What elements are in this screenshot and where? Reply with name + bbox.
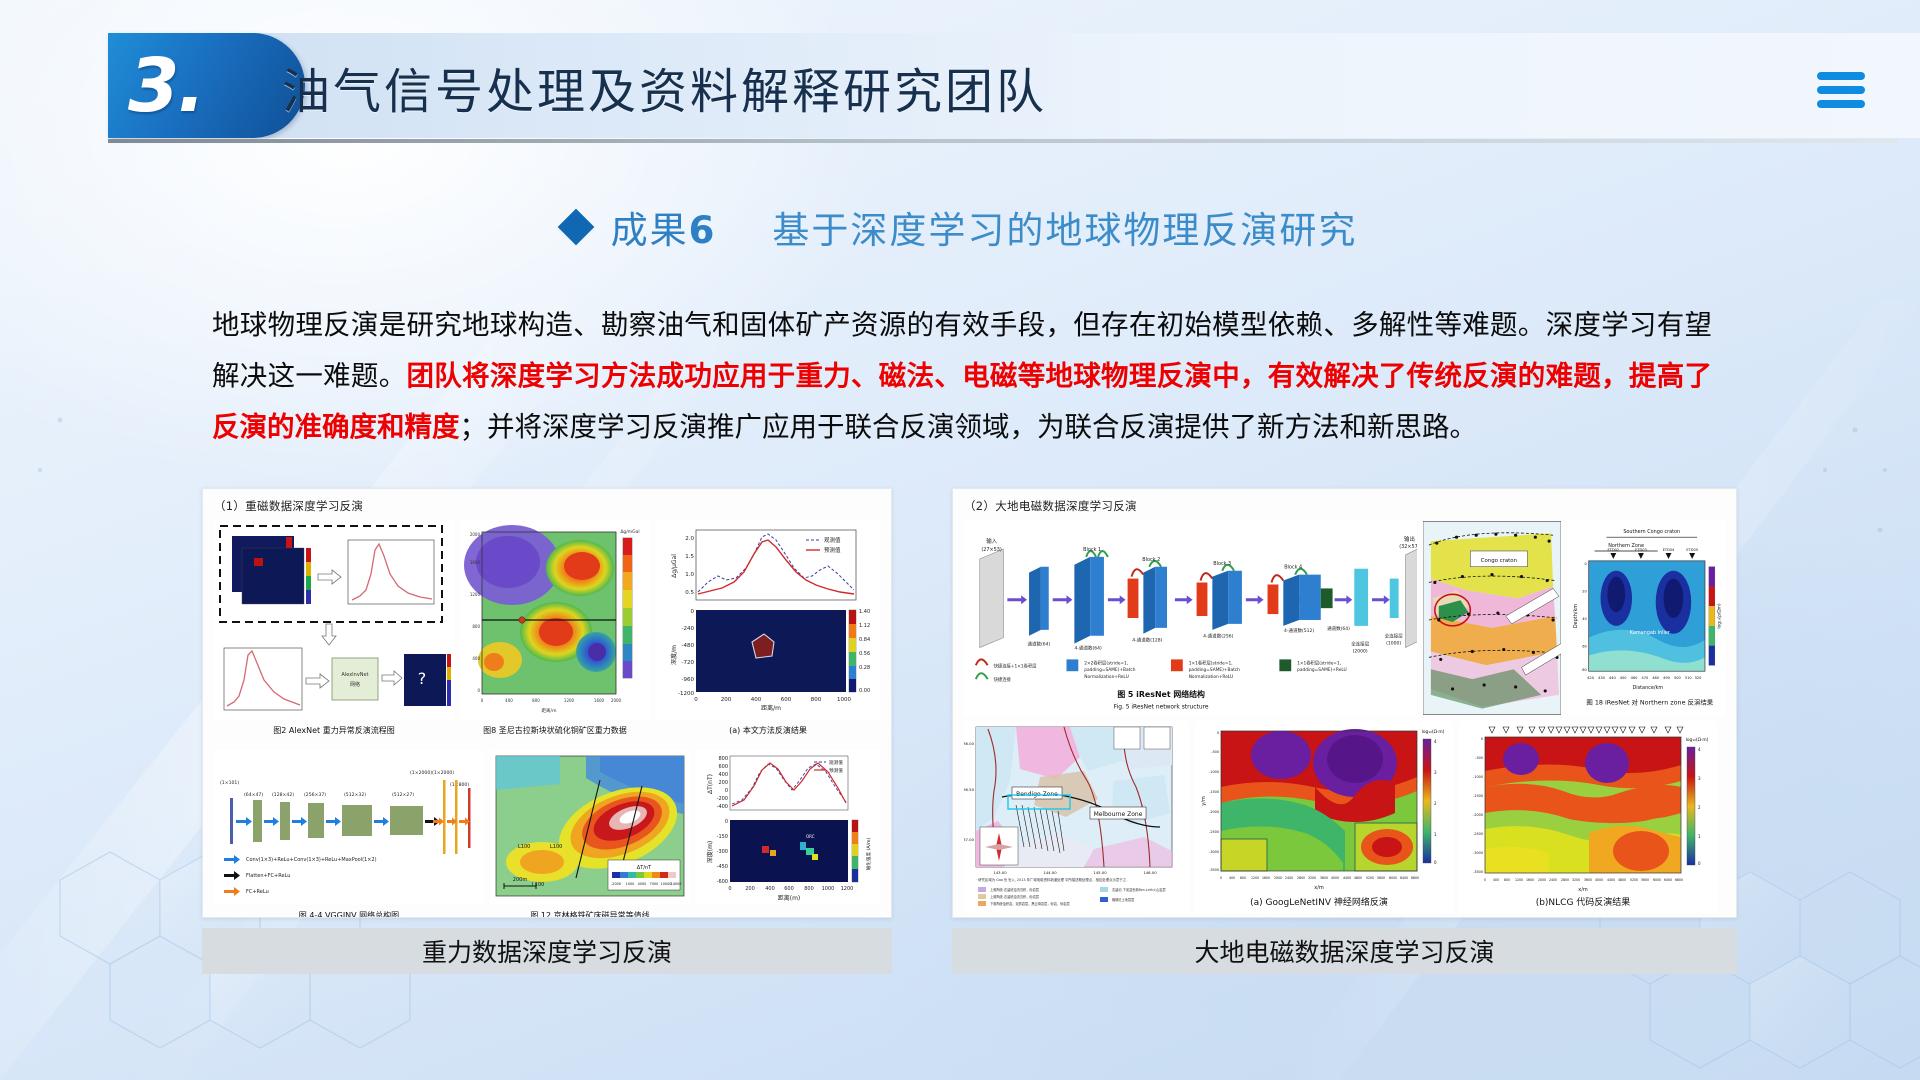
svg-text:1000: 1000 — [822, 886, 835, 892]
svg-text:-36.50: -36.50 — [964, 787, 975, 792]
svg-text:800: 800 — [1504, 878, 1510, 882]
svg-text:0.00: 0.00 — [859, 688, 870, 694]
svg-text:(2000): (2000) — [1353, 648, 1368, 654]
svg-text:(27×53): (27×53) — [981, 547, 1002, 553]
svg-text:200: 200 — [718, 780, 728, 786]
svg-text:2.0: 2.0 — [685, 536, 694, 542]
svg-text:下奥陶统浊积岩，泥质岩层，黑云母岩层，砂岩，砂岩层: 下奥陶统浊积岩，泥质岩层，黑云母岩层，砂岩，砂岩层 — [990, 901, 1070, 906]
svg-text:距离(m): 距离(m) — [778, 894, 801, 902]
svg-text:470: 470 — [1642, 676, 1649, 680]
svg-text:图 5 iResNet 网络结构: 图 5 iResNet 网络结构 — [1117, 689, 1205, 699]
svg-text:-3500: -3500 — [1473, 870, 1483, 874]
svg-text:ETD05: ETD05 — [1687, 548, 1699, 552]
figure-card-left: （1）重磁数据深度学习反演 — [202, 488, 892, 918]
svg-text:· 研究区域为 Gao 등 등入, 2013 年广域电磁资料: · 研究区域为 Gao 등 등入, 2013 年广域电磁资料新道处理 中所描述概… — [976, 877, 1127, 882]
subfigure-nlcg-inversion: 0400 8001200 16002000 24002800 32003600 … — [1459, 721, 1717, 913]
svg-text:Normalization+ReLU: Normalization+ReLU — [1189, 674, 1234, 680]
svg-text:6400: 6400 — [1664, 878, 1672, 882]
section-subtitle: 成果6 基于深度学习的地球物理反演研究 — [0, 200, 1920, 254]
diamond-bullet-icon — [557, 209, 594, 246]
svg-text:-720: -720 — [682, 660, 695, 666]
svg-text:-1200: -1200 — [678, 691, 694, 697]
svg-text:6000: 6000 — [1653, 878, 1661, 882]
body-paragraph: 地球物理反演是研究地球构造、勘察油气和固体矿产资源的有效手段，但存在初始模型依赖… — [212, 300, 1712, 453]
svg-text:1200: 1200 — [1515, 878, 1523, 882]
svg-text:800: 800 — [1240, 876, 1246, 880]
subfigure-vgginv-network: (1×101) (64×47) (128×42) (256×37) (512×3… — [214, 750, 484, 905]
svg-text:1000: 1000 — [837, 697, 851, 703]
svg-text:(256×37): (256×37) — [304, 792, 326, 798]
svg-text:6800: 6800 — [1675, 878, 1683, 882]
svg-text:4-通道数(256): 4-通道数(256) — [1203, 633, 1233, 640]
subfigure-northern-zone-inversion: Southern Congo craton Northern Zone ETD0… — [1567, 520, 1725, 716]
svg-text:440: 440 — [1609, 676, 1616, 680]
svg-text:通道数(64): 通道数(64) — [1027, 641, 1050, 648]
svg-text:FC+ReLu: FC+ReLu — [246, 889, 269, 895]
svg-text:0: 0 — [1220, 876, 1222, 880]
svg-text:-300: -300 — [717, 849, 728, 855]
subfigure-bendigo-melbourne-map: Bendigo Zone Melbourne Zone — [964, 721, 1189, 913]
svg-text:600: 600 — [784, 886, 794, 892]
svg-text:3200: 3200 — [1572, 878, 1580, 882]
svg-text:80: 80 — [1583, 668, 1588, 672]
svg-text:0.28: 0.28 — [859, 665, 870, 671]
svg-text:距离/m: 距离/m — [761, 704, 781, 712]
figure-card-right: （2）大地电磁数据深度学习反演 输入 (27×53) — [952, 488, 1737, 918]
slide-header: 3. 油气信号处理及资料解释研究团队 — [0, 0, 1920, 172]
svg-text:ΔT(nT): ΔT(nT) — [707, 774, 714, 794]
svg-text:0: 0 — [1484, 878, 1486, 882]
svg-text:输入: 输入 — [986, 537, 997, 545]
svg-text:(b)NLCG 代码反演结果: (b)NLCG 代码反演结果 — [1536, 896, 1631, 908]
svg-text:0: 0 — [1217, 731, 1219, 735]
svg-text:400: 400 — [505, 698, 513, 703]
svg-text:-2000: -2000 — [1209, 810, 1219, 814]
body-segment-2: ；并将深度学习反演推广应用于联合反演领域，为联合反演提供了新方法和新思路。 — [460, 411, 1478, 443]
svg-text:20: 20 — [1583, 589, 1588, 593]
svg-text:-36.00: -36.00 — [964, 741, 975, 746]
svg-text:Southern Congo craton: Southern Congo craton — [1624, 529, 1681, 535]
svg-text:padding=SAME)+ReLU: padding=SAME)+ReLU — [1297, 667, 1347, 673]
svg-text:5600: 5600 — [1641, 878, 1649, 882]
subtitle-main: 基于深度学习的地球物理反演研究 — [772, 200, 1357, 254]
svg-text:输出: 输出 — [1404, 535, 1415, 543]
subtitle-label: 成果6 — [611, 200, 717, 254]
svg-text:0: 0 — [725, 788, 728, 794]
svg-text:?: ? — [418, 669, 427, 688]
svg-text:磁化强度 (A/m): 磁化强度 (A/m) — [865, 838, 872, 871]
svg-text:600: 600 — [718, 764, 728, 770]
svg-text:60: 60 — [1583, 645, 1588, 649]
svg-text:Δg/μGal: Δg/μGal — [671, 554, 678, 578]
svg-text:距离/m: 距离/m — [542, 707, 557, 714]
svg-text:1×1卷积层(stride=1,: 1×1卷积层(stride=1, — [1297, 659, 1341, 666]
svg-text:4800: 4800 — [1354, 876, 1362, 880]
figure-right-caption: 大地电磁数据深度学习反演 — [952, 928, 1737, 974]
svg-text:-960: -960 — [682, 677, 695, 683]
svg-text:L100: L100 — [518, 844, 530, 850]
svg-text:4400: 4400 — [1607, 878, 1615, 882]
svg-text:Block 3: Block 3 — [1213, 561, 1231, 567]
svg-text:14000: 14000 — [671, 882, 682, 886]
svg-text:2400: 2400 — [1285, 876, 1293, 880]
svg-text:2800: 2800 — [1297, 876, 1305, 880]
figure-left-caption: 重力数据深度学习反演 — [202, 928, 892, 974]
hamburger-bar-3 — [1817, 100, 1865, 108]
svg-text:log₁₀(Ω·m): log₁₀(Ω·m) — [1686, 737, 1709, 743]
page-title: 油气信号处理及资料解释研究团队 — [282, 45, 1047, 129]
svg-text:2000: 2000 — [1274, 876, 1282, 880]
svg-text:志留纪-下泥盆世新Ben-Leth火山岩层: 志留纪-下泥盆世新Ben-Leth火山岩层 — [1112, 887, 1166, 892]
svg-text:1.5: 1.5 — [685, 554, 694, 560]
svg-text:460: 460 — [1631, 676, 1638, 680]
svg-text:-500: -500 — [1475, 756, 1483, 760]
svg-text:2×2卷积层(stride=1,: 2×2卷积层(stride=1, — [1084, 659, 1128, 666]
svg-text:5200: 5200 — [1630, 878, 1638, 882]
svg-text:(32×57): (32×57) — [1399, 544, 1417, 550]
header-number: 3. — [128, 40, 248, 132]
svg-text:4-通道数(512): 4-通道数(512) — [1284, 627, 1314, 634]
svg-text:全连接层: 全连接层 — [1385, 633, 1404, 640]
svg-text:1200: 1200 — [841, 886, 854, 892]
svg-text:-2000: -2000 — [611, 882, 621, 886]
subfigure-iresnet-structure: 输入 (27×53) — [964, 520, 1417, 716]
svg-text:2000: 2000 — [470, 532, 481, 537]
svg-text:3600: 3600 — [1584, 878, 1592, 882]
svg-text:800: 800 — [811, 697, 822, 703]
svg-text:快捷连接: 快捷连接 — [994, 676, 1012, 683]
svg-text:0: 0 — [725, 819, 728, 825]
svg-text:1000: 1000 — [626, 882, 635, 886]
svg-text:600: 600 — [781, 697, 792, 703]
svg-text:-500: -500 — [1211, 750, 1219, 754]
hamburger-icon[interactable] — [1817, 72, 1865, 108]
svg-text:143.00: 143.00 — [993, 870, 1007, 875]
svg-text:4400: 4400 — [1343, 876, 1351, 880]
svg-text:1200: 1200 — [470, 592, 481, 597]
svg-text:0.84: 0.84 — [859, 637, 870, 643]
svg-text:Depth/km: Depth/km — [1573, 604, 1579, 628]
svg-text:400: 400 — [1229, 876, 1235, 880]
svg-text:-3000: -3000 — [1209, 850, 1219, 854]
svg-text:400: 400 — [472, 656, 480, 661]
svg-text:-1500: -1500 — [1209, 790, 1219, 794]
svg-text:500: 500 — [1674, 676, 1681, 680]
svg-text:Fig. 5 iResNet network struc: Fig. 5 iResNet network structure — [1114, 705, 1209, 711]
subfigure-vgginv-caption: 图 4-4 VGGINV 网络总构图 — [214, 910, 484, 918]
svg-text:快捷连接+1×1卷积层: 快捷连接+1×1卷积层 — [994, 662, 1038, 669]
svg-text:-1500: -1500 — [1473, 794, 1483, 798]
svg-text:log₁₀(ρ/Ωm): log₁₀(ρ/Ωm) — [1717, 603, 1723, 628]
svg-text:-2500: -2500 — [1473, 832, 1483, 836]
svg-text:(1×101): (1×101) — [220, 780, 239, 786]
svg-text:480: 480 — [1653, 676, 1660, 680]
svg-text:Congo craton: Congo craton — [1481, 558, 1517, 564]
svg-text:padding=SAME)+Batch: padding=SAME)+Batch — [1189, 667, 1240, 673]
subfigure-alexnet-flow: AlexInvNet 网络 ? — [214, 520, 454, 720]
svg-text:padding=SAME)+Batch: padding=SAME)+Batch — [1084, 667, 1135, 673]
svg-text:200: 200 — [745, 886, 755, 892]
svg-text:3600: 3600 — [1320, 876, 1328, 880]
svg-text:通道数(64): 通道数(64) — [1327, 625, 1350, 632]
svg-text:800: 800 — [804, 886, 814, 892]
svg-text:420: 420 — [1588, 676, 1595, 680]
subfigure-san-nicolas-gravity-anomaly: Δg/mGal 0 400 800 1200 1600 2000 0400 — [460, 520, 650, 720]
svg-text:(1×2000)(1×2000): (1×2000)(1×2000) — [410, 770, 454, 776]
svg-text:观测值: 观测值 — [824, 536, 841, 544]
svg-text:1600: 1600 — [1262, 876, 1270, 880]
hamburger-bar-1 — [1817, 72, 1865, 80]
svg-text:1600: 1600 — [470, 560, 481, 565]
svg-text:网络: 网络 — [350, 681, 360, 688]
svg-text:4-通道数(64): 4-通道数(64) — [1075, 645, 1103, 652]
svg-text:-600: -600 — [717, 879, 728, 885]
svg-text:5200: 5200 — [1366, 876, 1374, 880]
svg-text:0.56: 0.56 — [859, 651, 870, 657]
svg-text:-1000: -1000 — [1209, 770, 1219, 774]
svg-text:Distance/km: Distance/km — [1633, 685, 1664, 691]
svg-text:(512×32): (512×32) — [344, 792, 366, 798]
svg-text:观测值: 观测值 — [829, 759, 843, 766]
svg-text:145.00: 145.00 — [1093, 870, 1107, 875]
svg-text:800: 800 — [472, 624, 480, 629]
svg-text:预测值: 预测值 — [824, 546, 841, 554]
svg-text:1.0: 1.0 — [685, 572, 694, 578]
svg-text:5600: 5600 — [1377, 876, 1385, 880]
svg-text:预测值: 预测值 — [829, 767, 843, 774]
svg-text:-200: -200 — [717, 796, 728, 802]
svg-text:L100: L100 — [532, 882, 544, 888]
figure-gravity-magnetic: （1）重磁数据深度学习反演 — [202, 488, 892, 974]
svg-text:0: 0 — [1481, 737, 1483, 741]
svg-text:146.00: 146.00 — [1143, 870, 1157, 875]
subtitle-label-prefix: 成果 — [611, 209, 689, 252]
svg-text:Melbourne Zone: Melbourne Zone — [1094, 811, 1143, 818]
svg-text:ETD04: ETD04 — [1663, 548, 1675, 552]
svg-text:800: 800 — [532, 698, 540, 703]
svg-text:510: 510 — [1685, 676, 1692, 680]
svg-text:400: 400 — [765, 886, 775, 892]
svg-text:6800: 6800 — [1411, 876, 1419, 880]
svg-text:上奥陶统-志留统浊流沉积，砂岩层: 上奥陶统-志留统浊流沉积，砂岩层 — [990, 887, 1039, 892]
svg-text:ETD02: ETD02 — [1608, 548, 1620, 552]
svg-text:430: 430 — [1598, 676, 1605, 680]
svg-text:x/m: x/m — [1314, 885, 1324, 891]
svg-text:L100: L100 — [550, 844, 562, 850]
svg-text:-1000: -1000 — [1473, 775, 1483, 779]
svg-text:520: 520 — [1695, 676, 1702, 680]
svg-text:490: 490 — [1663, 676, 1670, 680]
svg-text:ORC: ORC — [806, 834, 815, 839]
svg-text:0: 0 — [728, 886, 731, 892]
svg-text:Conv(1×3)+ReLu+Conv(1×3)+ReLu+: Conv(1×3)+ReLu+Conv(1×3)+ReLu+MaxPool(1×… — [246, 857, 377, 863]
svg-text:Block 4: Block 4 — [1284, 565, 1302, 571]
subfigure-inversion-result: 2.01.5 1.00.5 Δg/μGal 观测值 预测值 0- — [656, 520, 880, 720]
svg-text:3200: 3200 — [1308, 876, 1316, 880]
svg-text:2800: 2800 — [1561, 878, 1569, 882]
svg-text:上奥陶统-志留统浊流沉积，砂岩层: 上奥陶统-志留统浊流沉积，砂岩层 — [990, 894, 1039, 899]
svg-text:(128×42): (128×42) — [272, 792, 294, 798]
svg-text:Normalization+ReLU: Normalization+ReLU — [1084, 674, 1129, 680]
svg-text:4000: 4000 — [1595, 878, 1603, 882]
header-divider — [108, 139, 1898, 143]
svg-text:4000: 4000 — [1331, 876, 1339, 880]
figure-right-panel-label: （2）大地电磁数据深度学习反演 — [964, 498, 1725, 514]
svg-text:(512×27): (512×27) — [392, 792, 414, 798]
svg-text:0: 0 — [481, 698, 484, 703]
svg-text:晚期红土地层层: 晚期红土地层层 — [1112, 897, 1134, 902]
svg-text:-150: -150 — [717, 834, 728, 840]
svg-text:200m: 200m — [513, 877, 528, 883]
svg-text:-3000: -3000 — [1473, 851, 1483, 855]
svg-text:Δg/mGal: Δg/mGal — [620, 529, 639, 535]
svg-text:2000: 2000 — [1538, 878, 1546, 882]
svg-text:800: 800 — [718, 756, 728, 762]
subfigure-inversion-result-caption: (a) 本文方法反演结果 — [656, 725, 880, 745]
svg-text:1200: 1200 — [1251, 876, 1259, 880]
svg-text:-2000: -2000 — [1473, 813, 1483, 817]
svg-text:1600: 1600 — [594, 698, 605, 703]
svg-text:深度/m: 深度/m — [670, 645, 678, 665]
svg-text:-480: -480 — [682, 643, 695, 649]
svg-text:(1000): (1000) — [1386, 641, 1401, 647]
svg-text:-240: -240 — [682, 626, 695, 632]
svg-text:1.40: 1.40 — [859, 609, 870, 615]
svg-text:450: 450 — [1620, 676, 1627, 680]
svg-text:log₁₀(Ω·m): log₁₀(Ω·m) — [1422, 729, 1445, 735]
svg-text:x/m: x/m — [1578, 887, 1588, 893]
svg-text:y/m: y/m — [1201, 796, 1207, 806]
svg-text:(a) GoogLeNetINV 神经网络反演: (a) GoogLeNetINV 神经网络反演 — [1250, 896, 1388, 908]
figure-magnetotelluric: （2）大地电磁数据深度学习反演 输入 (27×53) — [952, 488, 1737, 974]
svg-text:1×1卷积层(stride=1,: 1×1卷积层(stride=1, — [1189, 659, 1233, 666]
svg-text:4800: 4800 — [1618, 878, 1626, 882]
svg-text:400: 400 — [1493, 878, 1499, 882]
svg-text:(64×47): (64×47) — [244, 792, 263, 798]
svg-text:40: 40 — [1583, 617, 1588, 621]
svg-text:4000: 4000 — [638, 882, 647, 886]
svg-text:2000: 2000 — [611, 698, 622, 703]
svg-text:Kamangab Inlier: Kamangab Inlier — [1630, 630, 1671, 636]
svg-text:-450: -450 — [717, 864, 728, 870]
svg-text:全连接层: 全连接层 — [1351, 641, 1370, 648]
svg-text:1.12: 1.12 — [859, 623, 870, 629]
svg-text:1200: 1200 — [564, 698, 575, 703]
svg-text:-3500: -3500 — [1209, 868, 1219, 872]
svg-text:144.00: 144.00 — [1043, 870, 1057, 875]
svg-text:图 18 iResNet 对 Northern zone: 图 18 iResNet 对 Northern zone 反演结果 — [1587, 698, 1714, 707]
subfigure-magnetic-contour: L100L100 L212L100 ΔT/nT — [490, 750, 690, 905]
subfigure-alexnet-flow-caption: 图2 AlexNet 重力异常反演流程图 — [214, 725, 454, 745]
svg-text:6400: 6400 — [1400, 876, 1408, 880]
svg-text:0: 0 — [694, 697, 698, 703]
svg-text:深度(m): 深度(m) — [706, 841, 714, 864]
svg-text:0: 0 — [691, 609, 695, 615]
svg-text:1600: 1600 — [1526, 878, 1534, 882]
svg-text:-2500: -2500 — [1209, 830, 1219, 834]
svg-text:AlexInvNet: AlexInvNet — [341, 672, 368, 678]
svg-text:200: 200 — [721, 697, 732, 703]
subfigure-congo-craton-map: Congo craton — [1423, 520, 1561, 716]
figure-left-panel-label: （1）重磁数据深度学习反演 — [214, 498, 880, 514]
svg-text:0.5: 0.5 — [685, 590, 694, 596]
svg-text:ETD03: ETD03 — [1635, 548, 1647, 552]
svg-text:4-通道数(128): 4-通道数(128) — [1132, 637, 1162, 644]
svg-text:(1×800): (1×800) — [450, 782, 469, 788]
svg-text:2400: 2400 — [1549, 878, 1557, 882]
svg-text:ΔT/nT: ΔT/nT — [637, 865, 652, 871]
svg-text:400: 400 — [718, 772, 728, 778]
svg-text:-400: -400 — [717, 804, 728, 810]
subfigure-magnetic-contour-caption: 图 12 京林格铁矿床磁异常等值线 — [490, 910, 690, 918]
svg-text:Block 2: Block 2 — [1142, 557, 1160, 563]
svg-text:Flatten+FC+ReLu: Flatten+FC+ReLu — [246, 873, 290, 879]
svg-text:Block 1: Block 1 — [1083, 547, 1101, 553]
svg-text:400: 400 — [751, 697, 762, 703]
subfigure-gravity-anomaly-caption: 图8 圣尼古拉斯块状硫化铜矿区重力数据 — [460, 725, 650, 745]
svg-text:-37.00: -37.00 — [964, 837, 975, 842]
subfigure-googlenetinv-inversion: 0400 8001200 16002000 24002800 32003600 … — [1195, 721, 1453, 913]
hamburger-bar-2 — [1817, 86, 1865, 94]
svg-text:6000: 6000 — [1389, 876, 1397, 880]
subfigure-magnetic-profile: 800600 400200 0-200 -400 ΔT(nT) 观测值 预测值 — [696, 750, 880, 905]
subtitle-label-number: 6 — [689, 209, 717, 252]
svg-text:7000: 7000 — [650, 882, 659, 886]
